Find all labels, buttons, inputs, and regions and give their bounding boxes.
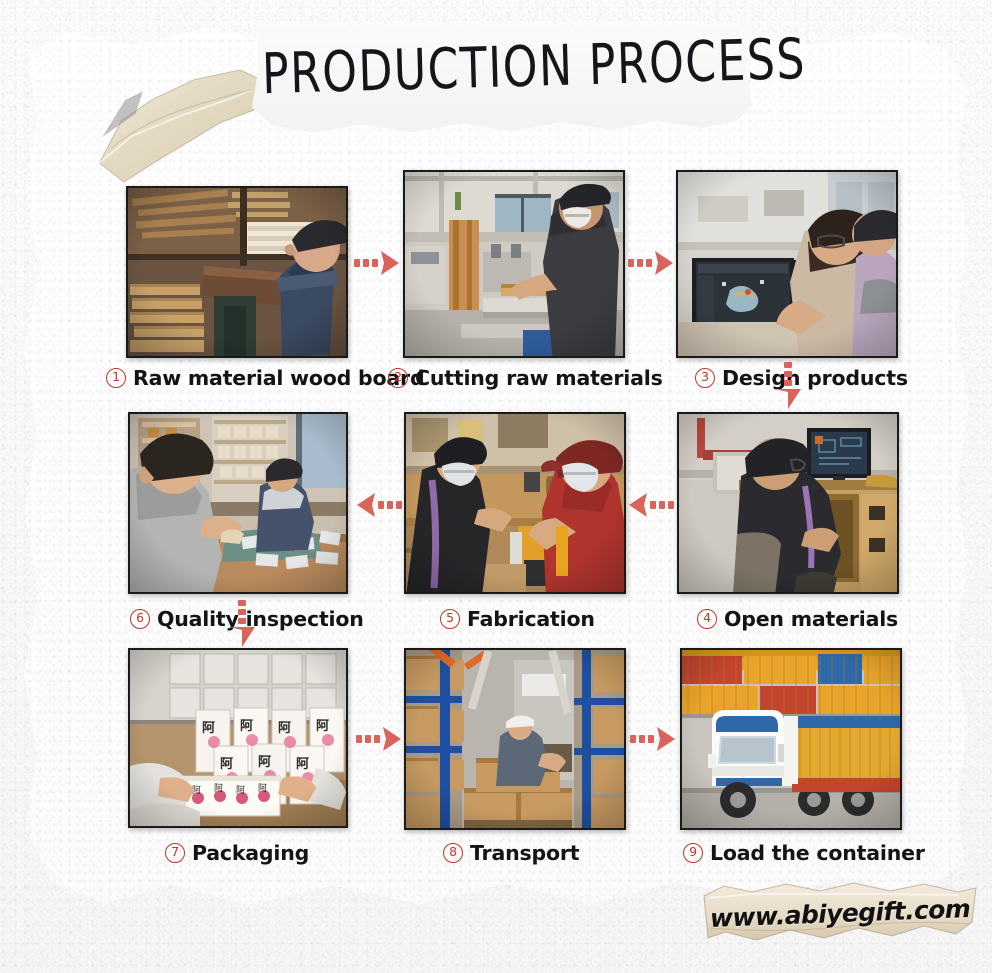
step-label-6: Quality inspection: [157, 607, 364, 631]
step-label-8: Transport: [470, 841, 579, 865]
step-caption-1: 1 Raw material wood board: [106, 366, 424, 390]
step-label-1: Raw material wood board: [133, 366, 424, 390]
photo-load-the-container: [682, 650, 900, 828]
photo-lumber-warehouse: [128, 188, 346, 356]
step-label-4: Open materials: [724, 607, 898, 631]
step-caption-2: 2 Cutting raw materials: [388, 366, 663, 390]
step-label-7: Packaging: [192, 841, 309, 865]
photo-packaging: 阿阿 阿阿 阿阿阿 阿: [130, 650, 346, 826]
step-caption-4: 4 Open materials: [697, 607, 898, 631]
step-number-4: 4: [697, 609, 717, 629]
step-label-5: Fabrication: [467, 607, 595, 631]
photo-fabrication: [406, 414, 624, 592]
step-photo-3[interactable]: [676, 170, 898, 358]
step-label-9: Load the container: [710, 841, 925, 865]
photo-cutting-raw-materials: [405, 172, 623, 356]
step-number-9: 9: [683, 843, 703, 863]
step-number-6: 6: [130, 609, 150, 629]
step-number-2: 2: [388, 368, 408, 388]
photo-quality-inspection: [130, 414, 346, 592]
step-photo-1[interactable]: [126, 186, 348, 358]
step-photo-6[interactable]: [128, 412, 348, 594]
step-number-3: 3: [695, 368, 715, 388]
step-number-8: 8: [443, 843, 463, 863]
step-number-7: 7: [165, 843, 185, 863]
step-caption-8: 8 Transport: [443, 841, 579, 865]
step-photo-2[interactable]: [403, 170, 625, 358]
photo-open-materials: [679, 414, 897, 592]
step-number-1: 1: [106, 368, 126, 388]
step-caption-7: 7 Packaging: [165, 841, 309, 865]
photo-design-products: [678, 172, 896, 356]
step-photo-8[interactable]: [404, 648, 626, 830]
step-photo-5[interactable]: [404, 412, 626, 594]
step-caption-9: 9 Load the container: [683, 841, 925, 865]
step-photo-7[interactable]: 阿阿 阿阿 阿阿阿 阿: [128, 648, 348, 828]
step-label-2: Cutting raw materials: [415, 366, 663, 390]
step-photo-4[interactable]: [677, 412, 899, 594]
photo-transport-warehouse: [406, 650, 624, 828]
step-caption-3: 3 Design products: [695, 366, 908, 390]
step-caption-6: 6 Quality inspection: [130, 607, 364, 631]
step-label-3: Design products: [722, 366, 908, 390]
page-title: PRODUCTION PROCESS: [261, 27, 743, 106]
website-url[interactable]: www.abiyegift.com: [699, 873, 981, 954]
step-photo-9[interactable]: [680, 648, 902, 830]
step-caption-5: 5 Fabrication: [440, 607, 595, 631]
step-number-5: 5: [440, 609, 460, 629]
production-process-poster: PRODUCTION PROCESS: [0, 0, 992, 973]
